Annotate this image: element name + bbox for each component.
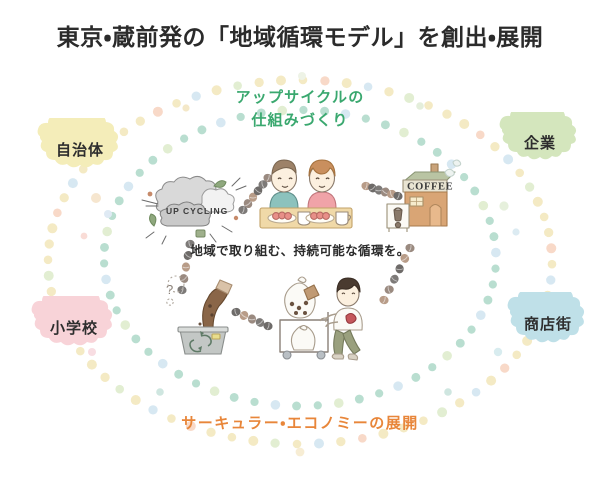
coffee-bean [182,262,190,271]
coffee-bean [388,273,400,285]
infographic-canvas: 東京・蔵前発の「地域循環モデル」を創出・展開 自治体 企業 小学校 商店街 [0,0,600,480]
illustration-people-cafe [256,146,356,234]
coffee-bean [395,264,403,273]
coffee-bean [378,295,389,306]
illustration-compost-bin: ? [160,272,252,356]
coffee-shop-sign-text: COFFEE [407,182,453,193]
center-caption: 地域で取り組む、持続可能な循環を。 [0,240,600,259]
circular-economy-heading: サーキュラー・エコノミーの展開 [0,412,600,433]
illustration-coffee-shop: COFFEE [385,156,463,236]
illustration-collection-cart [272,272,376,362]
coffee-bean [384,284,395,295]
upcycling-caption: UP CYCLING [166,206,228,216]
illustration-upcycling: UP CYCLING [136,160,252,246]
